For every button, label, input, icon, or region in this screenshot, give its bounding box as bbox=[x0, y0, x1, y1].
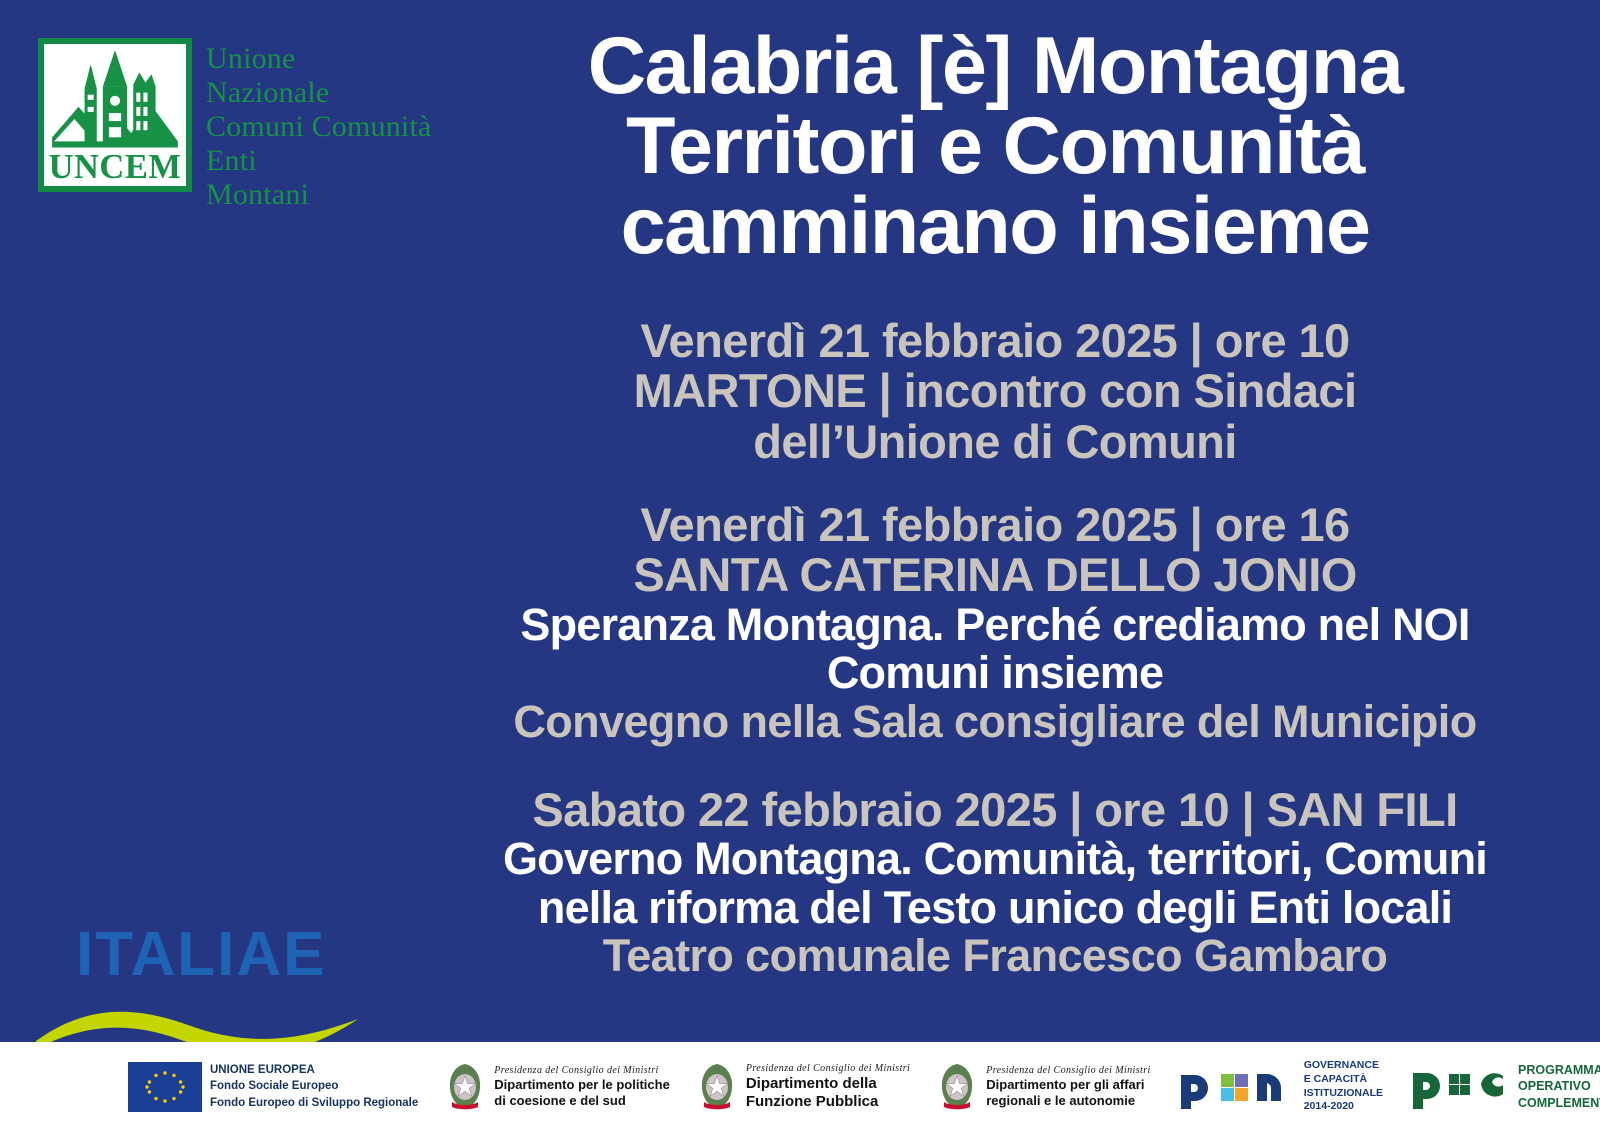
poc-mark-icon bbox=[1409, 1061, 1509, 1113]
headline-line-1: Calabria [è] Montagna bbox=[430, 26, 1560, 106]
poc-logo: PROGRAMMA OPERATIVO COMPLEMENTARE bbox=[1409, 1061, 1600, 1113]
italiae-wordmark: ITALIAE bbox=[76, 919, 327, 990]
ministry-name-line-1: Dipartimento della bbox=[746, 1075, 910, 1093]
headline-line-3: camminano insieme bbox=[430, 186, 1560, 266]
eu-line-1: UNIONE EUROPEA bbox=[210, 1062, 418, 1078]
pon-logo: GOVERNANCE E CAPACITÀ ISTITUZIONALE 2014… bbox=[1177, 1059, 1383, 1114]
poc-line-1: PROGRAMMA bbox=[1518, 1062, 1600, 1078]
ministry-logo-funzione-pubblica: Presidenza del Consiglio dei Ministri Di… bbox=[696, 1060, 910, 1114]
svg-text:UNCEM: UNCEM bbox=[49, 148, 182, 186]
event-block-santa-caterina: Venerdì 21 febbraio 2025 | ore 16 SANTA … bbox=[430, 500, 1560, 746]
headline-line-2: Territori e Comunità bbox=[430, 106, 1560, 186]
poc-logo-text: PROGRAMMA OPERATIVO COMPLEMENTARE bbox=[1518, 1062, 1600, 1111]
ministry-name-line-2: Funzione Pubblica bbox=[746, 1093, 910, 1111]
ministry-logo-affari-regionali: Presidenza del Consiglio dei Ministri Di… bbox=[936, 1060, 1150, 1114]
event-topic-line-1: Governo Montagna. Comunità, territori, C… bbox=[430, 835, 1560, 884]
uncem-word-line: Montani bbox=[206, 178, 309, 211]
uncem-word-line: Unione bbox=[206, 42, 296, 75]
ministry-name-line-2: regionali e le autonomie bbox=[986, 1093, 1150, 1109]
event-datetime: Venerdì 21 febbraio 2025 | ore 16 bbox=[430, 500, 1560, 550]
eu-logo-text: UNIONE EUROPEA Fondo Sociale Europeo Fon… bbox=[210, 1062, 418, 1111]
event-block-martone: Venerdì 21 febbraio 2025 | ore 10 MARTON… bbox=[430, 316, 1560, 467]
event-place: SANTA CATERINA DELLO JONIO bbox=[430, 550, 1560, 600]
ministry-name-line-1: Dipartimento per le politiche bbox=[494, 1077, 670, 1093]
pon-line-4: 2014-2020 bbox=[1304, 1100, 1383, 1114]
event-block-san-fili: Sabato 22 febbraio 2025 | ore 10 | SAN F… bbox=[430, 785, 1560, 981]
eu-logo: UNIONE EUROPEA Fondo Sociale Europeo Fon… bbox=[128, 1062, 418, 1112]
pon-line-3: ISTITUZIONALE bbox=[1304, 1087, 1383, 1101]
eu-line-2: Fondo Sociale Europeo bbox=[210, 1078, 418, 1094]
uncem-word-line: Comuni Comunità bbox=[206, 110, 432, 143]
page-title: Calabria [è] Montagna Territori e Comuni… bbox=[430, 26, 1560, 267]
poc-line-2: OPERATIVO bbox=[1518, 1078, 1600, 1094]
poc-line-3: COMPLEMENTARE bbox=[1518, 1095, 1600, 1111]
uncem-emblem-icon: UNCEM bbox=[38, 38, 192, 192]
event-poster: UNCEM Unione Nazionale Comuni Comunità E… bbox=[0, 0, 1600, 1131]
event-datetime: Sabato 22 febbraio 2025 | ore 10 | SAN F… bbox=[430, 785, 1560, 835]
pon-mark-icon bbox=[1177, 1061, 1295, 1113]
event-venue: Teatro comunale Francesco Gambaro bbox=[430, 932, 1560, 981]
ministry-script-line: Presidenza del Consiglio dei Ministri bbox=[494, 1065, 670, 1076]
uncem-logo: UNCEM Unione Nazionale Comuni Comunità E… bbox=[38, 38, 432, 211]
event-topic-line-1: Speranza Montagna. Perché crediamo nel N… bbox=[430, 601, 1560, 650]
footer-logos-bar: UNIONE EUROPEA Fondo Sociale Europeo Fon… bbox=[0, 1042, 1600, 1131]
uncem-wordmark: Unione Nazionale Comuni Comunità Enti Mo… bbox=[206, 38, 432, 211]
event-topic-line-2: nella riforma del Testo unico degli Enti… bbox=[430, 884, 1560, 933]
event-datetime: Venerdì 21 febbraio 2025 | ore 10 bbox=[430, 316, 1560, 366]
uncem-word-line: Nazionale bbox=[206, 76, 329, 109]
event-place-continuation: dell’Unione di Comuni bbox=[430, 417, 1560, 467]
italy-emblem-icon bbox=[444, 1060, 486, 1114]
eu-line-3: Fondo Europeo di Sviluppo Regionale bbox=[210, 1095, 418, 1111]
italy-emblem-icon bbox=[936, 1060, 978, 1114]
pon-logo-text: GOVERNANCE E CAPACITÀ ISTITUZIONALE 2014… bbox=[1304, 1059, 1383, 1114]
ministry-script-line: Presidenza del Consiglio dei Ministri bbox=[746, 1063, 910, 1074]
ministry-name-line-1: Dipartimento per gli affari bbox=[986, 1077, 1150, 1093]
uncem-word-line: Enti bbox=[206, 144, 257, 177]
event-topic-line-2: Comuni insieme bbox=[430, 649, 1560, 698]
event-venue: Convegno nella Sala consigliare del Muni… bbox=[430, 698, 1560, 747]
event-place: MARTONE | incontro con Sindaci bbox=[430, 366, 1560, 416]
eu-flag-icon bbox=[128, 1062, 202, 1112]
italy-emblem-icon bbox=[696, 1060, 738, 1114]
ministry-script-line: Presidenza del Consiglio dei Ministri bbox=[986, 1065, 1150, 1076]
ministry-name-line-2: di coesione e del sud bbox=[494, 1093, 670, 1109]
pon-line-2: E CAPACITÀ bbox=[1304, 1073, 1383, 1087]
italiae-logo: ITALIAE bbox=[28, 915, 388, 1050]
ministry-logo-coesione: Presidenza del Consiglio dei Ministri Di… bbox=[444, 1060, 670, 1114]
pon-line-1: GOVERNANCE bbox=[1304, 1059, 1383, 1073]
